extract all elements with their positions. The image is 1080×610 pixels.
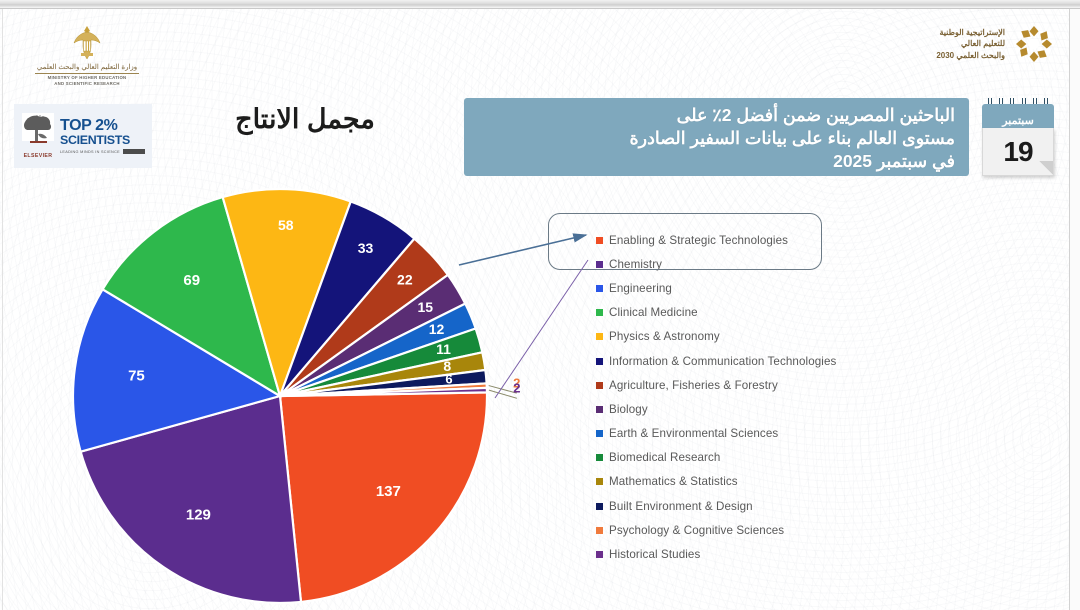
legend-item[interactable]: Chemistry: [596, 252, 926, 276]
badge-line-2: SCIENTISTS: [60, 134, 145, 147]
slide-canvas: وزارة التعليم العالي والبحث العلمي MINIS…: [0, 0, 1080, 610]
chart-title: مجمل الانتاج: [200, 104, 410, 135]
badge-tagline-bar: [123, 149, 145, 154]
legend-item[interactable]: Agriculture, Fisheries & Forestry: [596, 373, 926, 397]
legend-swatch-icon: [596, 309, 603, 316]
legend-item[interactable]: Engineering: [596, 276, 926, 300]
legend-swatch-icon: [596, 382, 603, 389]
elsevier-tree-icon: [22, 113, 54, 147]
pie-chart-svg: 13712975695833221512118622: [46, 162, 526, 610]
legend-label: Information & Communication Technologies: [609, 355, 836, 368]
legend-label: Earth & Environmental Sciences: [609, 427, 778, 440]
legend-label: Biomedical Research: [609, 451, 720, 464]
legend-swatch-icon: [596, 430, 603, 437]
legend-item[interactable]: Physics & Astronomy: [596, 325, 926, 349]
legend-label: Physics & Astronomy: [609, 330, 720, 343]
legend-item[interactable]: Enabling & Strategic Technologies: [596, 228, 926, 252]
badge-tagline-row: LEADING MINDS IN SCIENCE: [60, 149, 145, 154]
headline-line-1: الباحثين المصريين ضمن أفضل 2٪ على: [478, 104, 955, 127]
ministry-logo-rule: [35, 73, 139, 74]
legend-swatch-icon: [596, 333, 603, 340]
legend-label: Built Environment & Design: [609, 500, 753, 513]
legend-label: Biology: [609, 403, 648, 416]
legend-item[interactable]: Information & Communication Technologies: [596, 349, 926, 373]
strategy-flower-icon: [1014, 24, 1054, 64]
legend-item[interactable]: Psychology & Cognitive Sciences: [596, 518, 926, 542]
left-edge-line: [2, 9, 3, 610]
calendar-fold: [1039, 161, 1053, 175]
legend-swatch-icon: [596, 406, 603, 413]
legend-label: Clinical Medicine: [609, 306, 698, 319]
pie-slice-value: 75: [128, 368, 145, 385]
pie-slice-value: 129: [186, 507, 211, 524]
legend-label: Chemistry: [609, 258, 662, 271]
strategy-line-3: والبحث العلمي 2030: [936, 50, 1005, 62]
window-top-edge: [0, 0, 1080, 9]
legend-item[interactable]: Clinical Medicine: [596, 301, 926, 325]
legend-swatch-icon: [596, 261, 603, 268]
calendar-widget: سبتمبر 19: [982, 98, 1054, 180]
legend-label: Mathematics & Statistics: [609, 475, 738, 488]
legend-swatch-icon: [596, 237, 603, 244]
strategy-line-1: الإستراتيجية الوطنية: [936, 27, 1005, 39]
chart-legend: Enabling & Strategic TechnologiesChemist…: [596, 228, 926, 567]
strategy-line-2: للتعليم العالي: [936, 38, 1005, 50]
legend-label: Enabling & Strategic Technologies: [609, 234, 788, 247]
legend-swatch-icon: [596, 478, 603, 485]
elsevier-top2-badge: ELSEVIER TOP 2% SCIENTISTS LEADING MINDS…: [14, 104, 152, 168]
pie-slice-value: 2: [513, 381, 520, 396]
pie-slice-value: 22: [397, 272, 413, 288]
headline-line-2: مستوى العالم بناء على بيانات السفير الصا…: [478, 127, 955, 150]
eagle-emblem-icon: [70, 24, 104, 62]
pie-slice-value: 58: [278, 217, 294, 233]
legend-swatch-icon: [596, 358, 603, 365]
legend-item[interactable]: Mathematics & Statistics: [596, 470, 926, 494]
elsevier-wordmark: ELSEVIER: [21, 153, 55, 159]
ministry-logo-arabic: وزارة التعليم العالي والبحث العلمي: [12, 63, 162, 71]
right-edge-line: [1069, 9, 1070, 610]
ministry-logo-english-2: AND SCIENTIFIC RESEARCH: [12, 81, 162, 87]
pie-slice-value: 69: [183, 272, 200, 289]
legend-swatch-icon: [596, 454, 603, 461]
legend-label: Agriculture, Fisheries & Forestry: [609, 379, 778, 392]
pie-slice-value: 33: [358, 240, 374, 256]
legend-item[interactable]: Biology: [596, 397, 926, 421]
calendar-day: 19: [1003, 136, 1032, 168]
legend-label: Historical Studies: [609, 548, 700, 561]
calendar-day-box: 19: [982, 128, 1054, 176]
pie-slice-value: 6: [445, 372, 452, 387]
legend-swatch-icon: [596, 551, 603, 558]
national-strategy-logo: الإستراتيجية الوطنية للتعليم العالي والب…: [936, 24, 1054, 64]
legend-label: Engineering: [609, 282, 672, 295]
elsevier-logo: ELSEVIER: [21, 113, 55, 159]
calendar-month: سبتمبر: [982, 104, 1054, 128]
headline-line-3: في سبتمبر 2025: [478, 150, 955, 173]
pie-slice-value: 15: [417, 299, 433, 315]
badge-tagline: LEADING MINDS IN SCIENCE: [60, 150, 120, 154]
pie-chart: 13712975695833221512118622: [46, 162, 526, 610]
pie-slice-value: 137: [376, 483, 401, 500]
legend-item[interactable]: Built Environment & Design: [596, 494, 926, 518]
badge-line-1: TOP 2%: [60, 118, 145, 134]
pie-slice-value: 11: [436, 341, 451, 357]
legend-swatch-icon: [596, 527, 603, 534]
pie-slice-value: 12: [429, 321, 445, 337]
legend-item[interactable]: Biomedical Research: [596, 446, 926, 470]
legend-label: Psychology & Cognitive Sciences: [609, 524, 784, 537]
ministry-logo: وزارة التعليم العالي والبحث العلمي MINIS…: [12, 24, 162, 87]
headline-banner: الباحثين المصريين ضمن أفضل 2٪ على مستوى …: [464, 98, 969, 176]
legend-swatch-icon: [596, 503, 603, 510]
right-margin: [1070, 9, 1080, 610]
legend-swatch-icon: [596, 285, 603, 292]
legend-item[interactable]: Earth & Environmental Sciences: [596, 422, 926, 446]
legend-item[interactable]: Historical Studies: [596, 542, 926, 566]
